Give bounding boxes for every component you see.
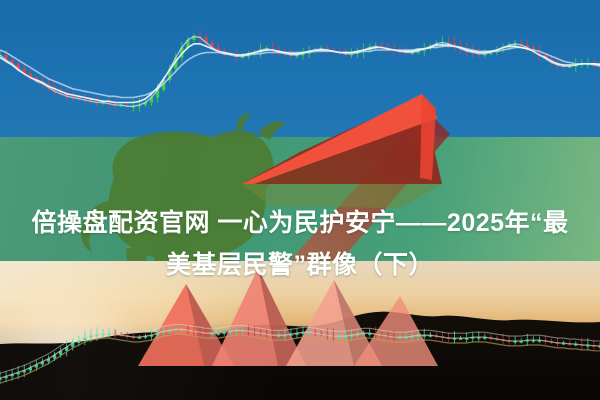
cover-image: 倍操盘配资官网 一心为民护安宁——2025年“最 美基层民警”群像（下）: [0, 0, 600, 400]
title-line-2: 美基层民警”群像（下）: [14, 244, 586, 286]
page-title: 倍操盘配资官网 一心为民护安宁——2025年“最 美基层民警”群像（下）: [0, 160, 600, 328]
title-line-1: 倍操盘配资官网 一心为民护安宁——2025年“最: [31, 209, 568, 237]
